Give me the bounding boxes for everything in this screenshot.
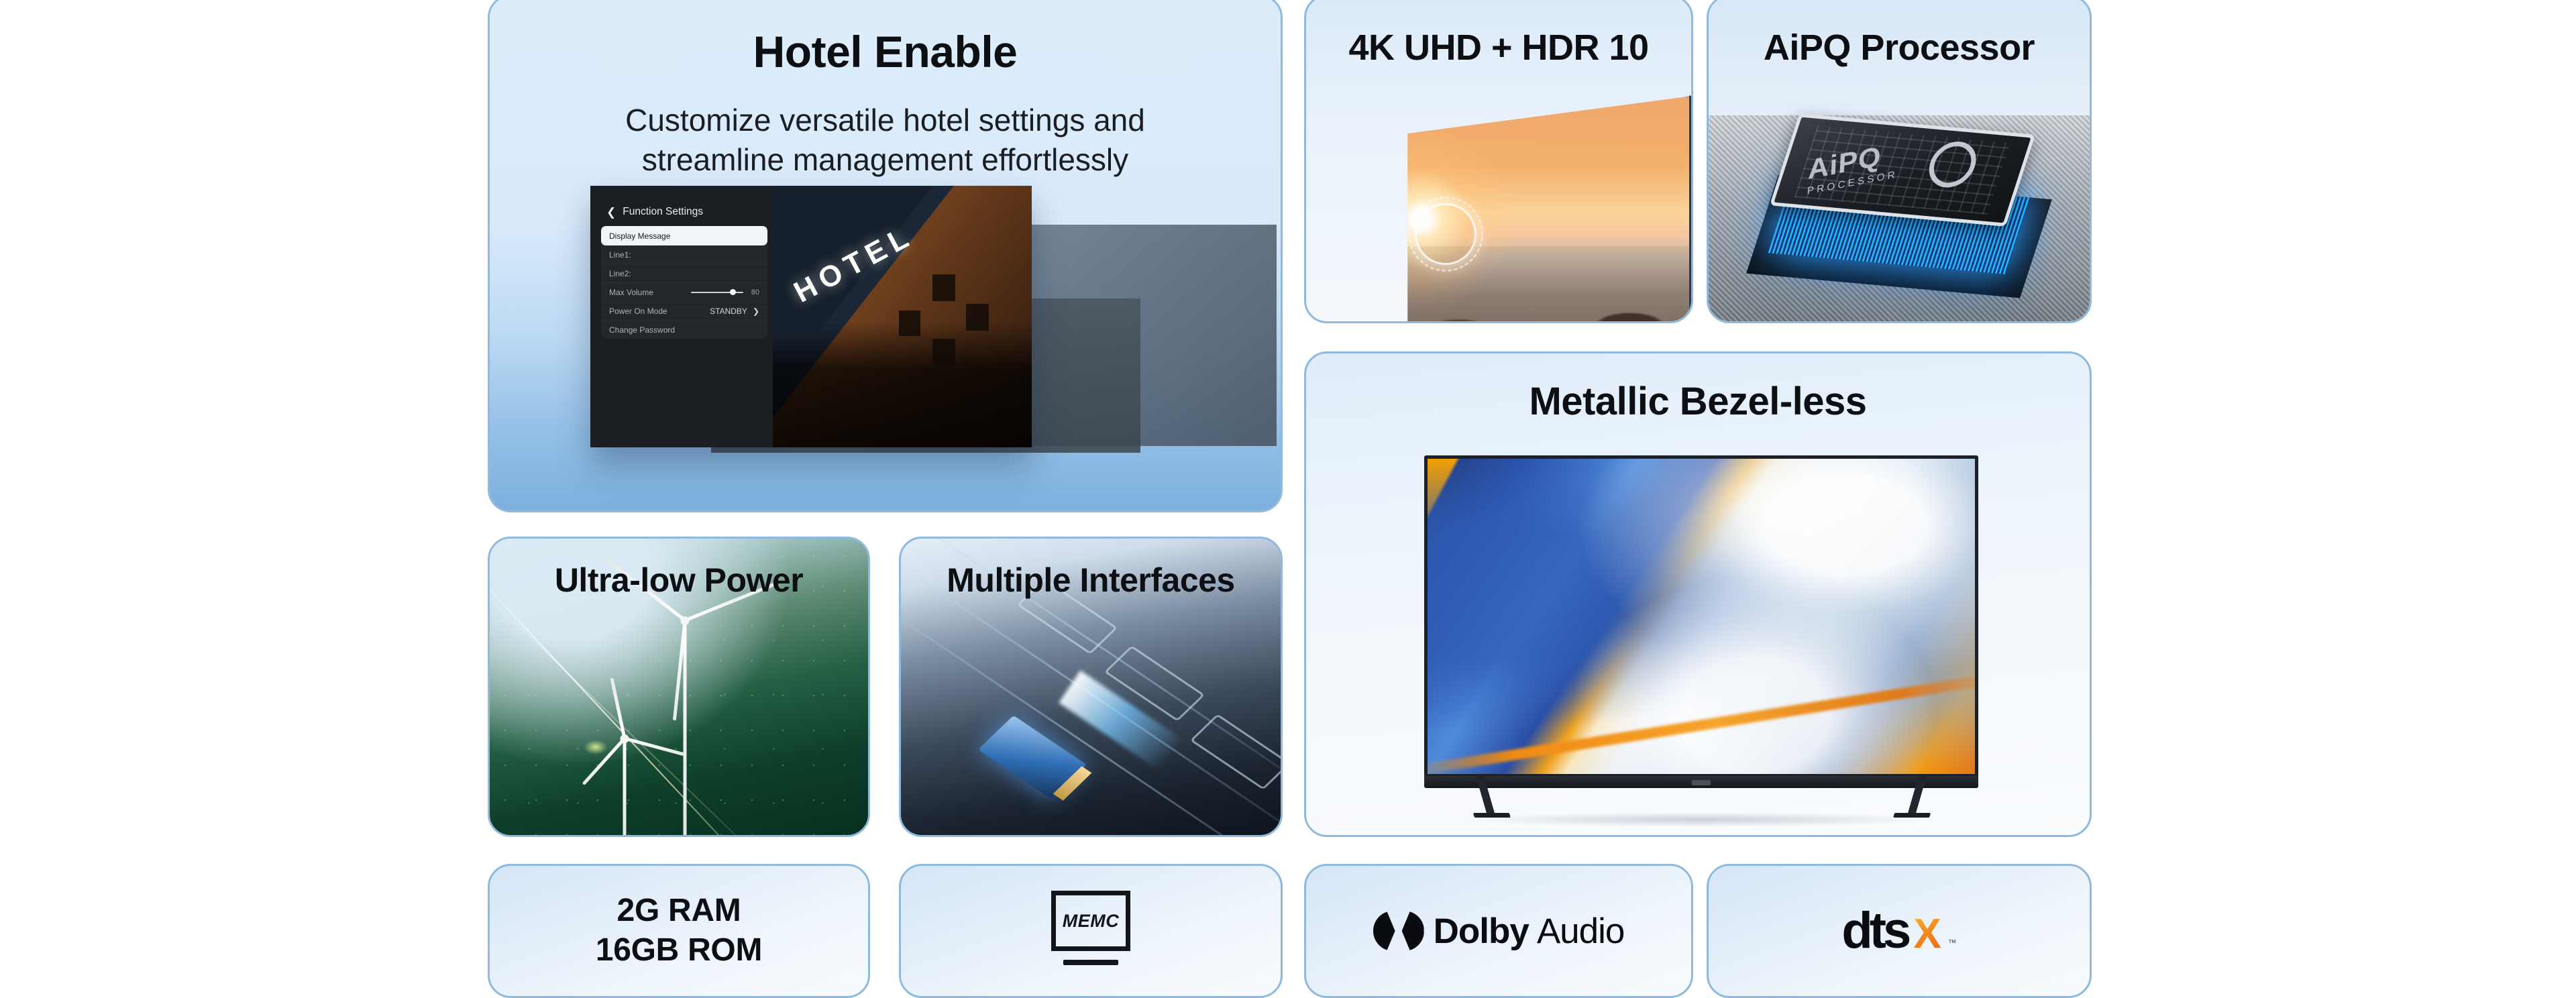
memc-label: MEMC xyxy=(1051,911,1130,932)
dts-x-logo: dts X ™ xyxy=(1841,907,1956,954)
turbine-hub xyxy=(621,734,629,743)
wind-turbine-large xyxy=(683,620,687,835)
dolby-double-d-icon xyxy=(1373,911,1424,951)
ram-line: 2G RAM xyxy=(596,891,762,931)
card-subtitle-hotel-enable: Customize versatile hotel settings and s… xyxy=(553,101,1217,180)
settings-row-display-message[interactable]: Display Message xyxy=(601,226,767,245)
hdr-focus-ring-icon xyxy=(1415,203,1477,265)
power-on-mode-value: STANDBY xyxy=(710,307,747,316)
settings-row-label: Power On Mode xyxy=(609,307,667,316)
card-title-hotel-enable: Hotel Enable xyxy=(490,29,1281,75)
function-settings-panel[interactable]: ❮ Function Settings Display Message Line… xyxy=(590,186,773,447)
tv-panel xyxy=(1345,96,1693,323)
card-memc[interactable]: MEMC xyxy=(899,864,1283,998)
settings-list[interactable]: Display Message Line1: Line2: Max Volume xyxy=(601,226,767,339)
card-dolby-audio[interactable]: DolbyAudio xyxy=(1304,864,1693,998)
dolby-d-left xyxy=(1373,911,1395,951)
card-ultra-low-power[interactable]: Ultra-low Power xyxy=(488,537,870,837)
card-metallic-bezel-less[interactable]: Metallic Bezel-less xyxy=(1304,351,2092,837)
max-volume-slider[interactable] xyxy=(691,292,743,293)
settings-row-label: Change Password xyxy=(609,325,675,335)
card-aipq-processor[interactable]: AiPQ Processor AiPQ PROCESSOR xyxy=(1707,0,2092,323)
rom-line: 16GB ROM xyxy=(596,931,762,971)
settings-row-label: Line2: xyxy=(609,269,631,278)
lens-flare xyxy=(584,740,608,755)
dts-x-glyph: X xyxy=(1913,915,1941,954)
card-ram-rom[interactable]: 2G RAM 16GB ROM xyxy=(488,864,870,998)
settings-header: ❮ Function Settings xyxy=(606,206,766,218)
dolby-product: Audio xyxy=(1537,911,1625,951)
max-volume-value: 80 xyxy=(749,288,759,296)
dolby-wordmark: DolbyAudio xyxy=(1434,911,1625,952)
settings-row-power-on-mode[interactable]: Power On Mode STANDBY ❯ xyxy=(601,302,767,321)
dts-wordmark: dts xyxy=(1841,907,1908,954)
hotel-building-photo: HOTEL xyxy=(765,186,1032,447)
hotel-tv-illustration: HOTEL ❮ Function Settings Display Messag… xyxy=(490,0,1281,510)
card-title-metallic-bezel-less: Metallic Bezel-less xyxy=(1306,382,2090,423)
chip-illustration: AiPQ PROCESSOR xyxy=(1709,97,2090,321)
building-window xyxy=(932,274,955,301)
dts-trademark: ™ xyxy=(1948,938,1957,948)
turbine-mast xyxy=(684,620,687,835)
wind-turbine-small xyxy=(623,738,627,835)
settings-row-line1[interactable]: Line1: xyxy=(601,245,767,264)
card-dts-x[interactable]: dts X ™ xyxy=(1707,864,2092,998)
hotel-sign-text: HOTEL xyxy=(789,219,920,309)
memc-stand xyxy=(1063,960,1118,965)
ram-rom-text: 2G RAM 16GB ROM xyxy=(596,891,762,970)
building-window xyxy=(899,311,920,336)
chevron-left-icon[interactable]: ❮ xyxy=(606,207,616,218)
tv-edge xyxy=(1689,95,1693,323)
hdmi-port xyxy=(1190,714,1281,790)
settings-row-change-password[interactable]: Change Password xyxy=(601,321,767,339)
tv-shadow xyxy=(1464,812,1938,827)
ir-receiver xyxy=(1692,780,1711,785)
memc-icon: MEMC xyxy=(1051,891,1130,971)
settings-row-max-volume[interactable]: Max Volume 80 xyxy=(601,283,767,302)
sunset-tv-illustration xyxy=(1345,96,1693,323)
card-hotel-enable[interactable]: Hotel Enable Customize versatile hotel s… xyxy=(488,0,1283,512)
slider-knob[interactable] xyxy=(730,289,736,295)
turbine-hub xyxy=(681,616,690,625)
turbine-mast xyxy=(623,738,627,835)
feature-grid: Hotel Enable Customize versatile hotel s… xyxy=(0,0,2576,997)
hdmi-plug xyxy=(978,716,1087,799)
dolby-brand: Dolby xyxy=(1434,911,1529,951)
card-4k-uhd-hdr10[interactable]: 4K UHD + HDR 10 xyxy=(1304,0,1693,323)
card-title-4k-uhd: 4K UHD + HDR 10 xyxy=(1306,29,1691,67)
settings-row-label: Max Volume xyxy=(609,288,653,297)
dolby-audio-logo: DolbyAudio xyxy=(1373,911,1625,952)
settings-header-label: Function Settings xyxy=(623,206,703,218)
tv-screen: HOTEL ❮ Function Settings Display Messag… xyxy=(590,186,1032,447)
settings-row-label: Line1: xyxy=(609,250,631,260)
building-window xyxy=(932,339,955,366)
chevron-right-icon[interactable]: ❯ xyxy=(753,307,759,316)
card-title-multiple-interfaces: Multiple Interfaces xyxy=(901,563,1281,598)
bezel-less-tv xyxy=(1424,455,1978,777)
dolby-d-right xyxy=(1402,911,1424,951)
card-title-aipq: AiPQ Processor xyxy=(1709,29,2090,67)
card-multiple-interfaces[interactable]: Multiple Interfaces xyxy=(899,537,1283,837)
settings-row-label: Display Message xyxy=(609,231,670,241)
building-window xyxy=(966,304,989,331)
settings-row-line2[interactable]: Line2: xyxy=(601,264,767,283)
tv-screen-wallpaper xyxy=(1424,455,1978,777)
card-title-ultra-low-power: Ultra-low Power xyxy=(490,563,868,598)
